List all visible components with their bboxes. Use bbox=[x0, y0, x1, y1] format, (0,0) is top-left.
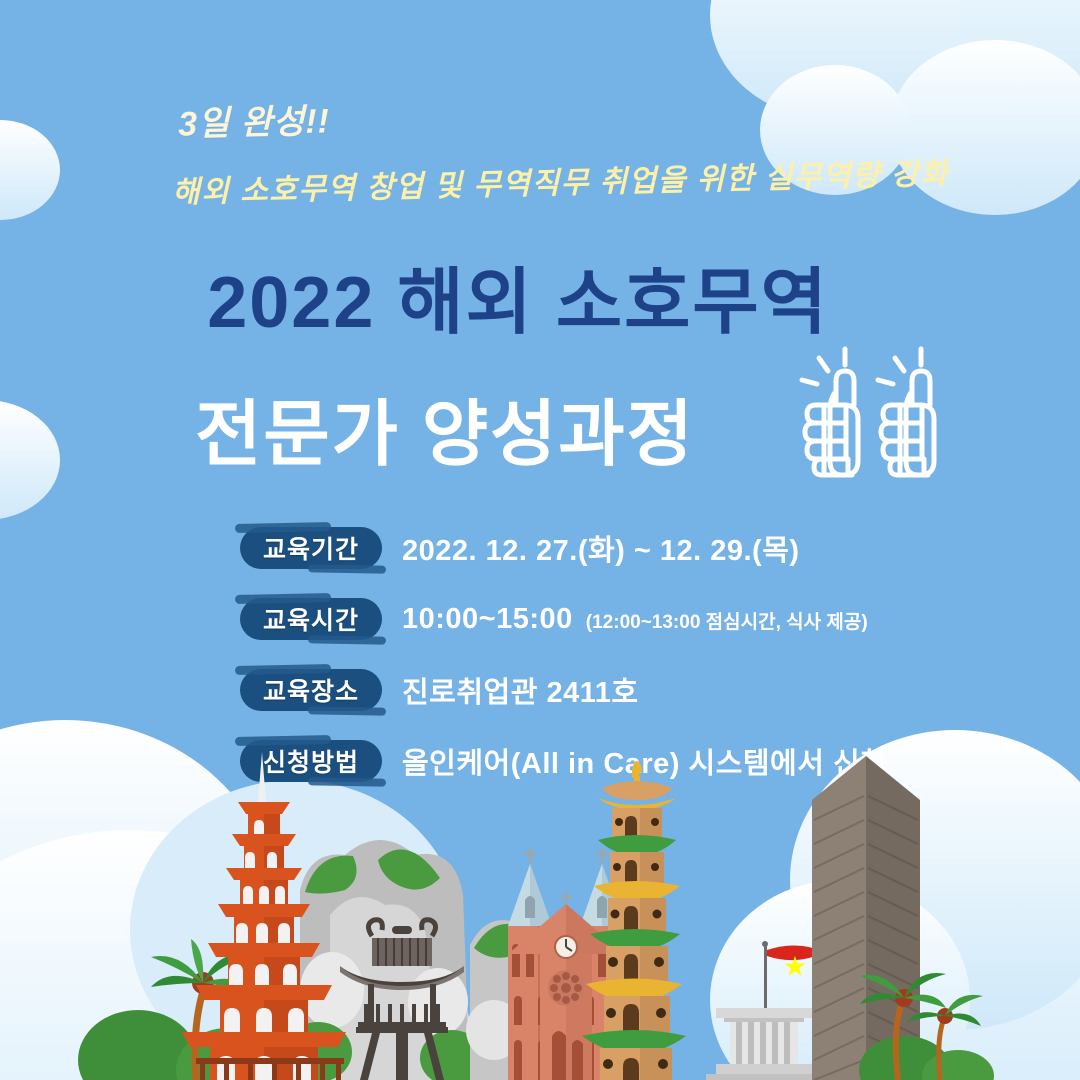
vietnam-landmarks-illustration bbox=[0, 740, 1080, 1080]
info-value-place: 진로취업관 2411호 bbox=[402, 669, 639, 711]
promo-poster: 3일 완성!! 해외 소호무역 창업 및 무역직무 취업을 위한 실무역량 강화… bbox=[0, 0, 1080, 1080]
info-row: 교육시간 10:00~15:00 (12:00~13:00 점심시간, 식사 제… bbox=[240, 591, 1030, 647]
info-value-text: 10:00~15:00 bbox=[402, 603, 573, 636]
thumbs-up-icon bbox=[778, 345, 948, 485]
info-note-text: (12:00~13:00 점심시간, 식사 제공) bbox=[586, 607, 868, 634]
info-row: 교육기간 2022. 12. 27.(화) ~ 12. 29.(목) bbox=[240, 520, 1030, 576]
info-badge-place: 교육장소 bbox=[240, 669, 382, 711]
info-value-time: 10:00~15:00 (12:00~13:00 점심시간, 식사 제공) bbox=[402, 603, 868, 636]
info-value-text: 진로취업관 2411호 bbox=[402, 669, 639, 711]
ho-chi-minh-mausoleum-icon bbox=[706, 1008, 822, 1080]
page-title-line-1: 2022 해외 소호무역 bbox=[0, 243, 1058, 348]
subtitle-text: 해외 소호무역 창업 및 무역직무 취업을 위한 실무역량 강화 bbox=[172, 149, 950, 212]
info-value-text: 2022. 12. 27.(화) ~ 12. 29.(목) bbox=[402, 527, 800, 569]
bitexco-financial-tower-icon bbox=[812, 756, 920, 1080]
info-badge-period: 교육기간 bbox=[240, 527, 382, 569]
kicker-text: 3일 완성!! bbox=[178, 93, 331, 145]
info-badge-time: 교육시간 bbox=[240, 598, 382, 640]
info-value-period: 2022. 12. 27.(화) ~ 12. 29.(목) bbox=[402, 527, 800, 569]
info-row: 교육장소 진로취업관 2411호 bbox=[240, 662, 1030, 718]
